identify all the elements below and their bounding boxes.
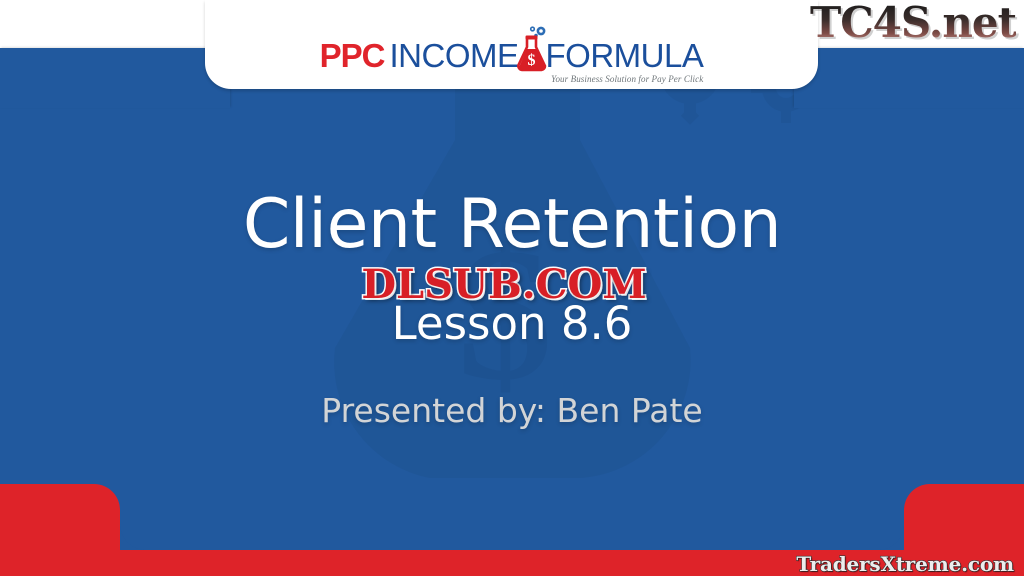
slide-title: Client Retention xyxy=(243,191,781,259)
presentation-slide: $ xyxy=(0,0,1024,576)
watermark-tc4s: TC4S.net xyxy=(810,2,1016,44)
slide-presenter: Presented by: Ben Pate xyxy=(321,394,702,427)
watermark-tradersxtreme: TradersXtreme.com xyxy=(796,554,1014,574)
watermark-dlsub: DLSUB.COM xyxy=(361,265,646,305)
